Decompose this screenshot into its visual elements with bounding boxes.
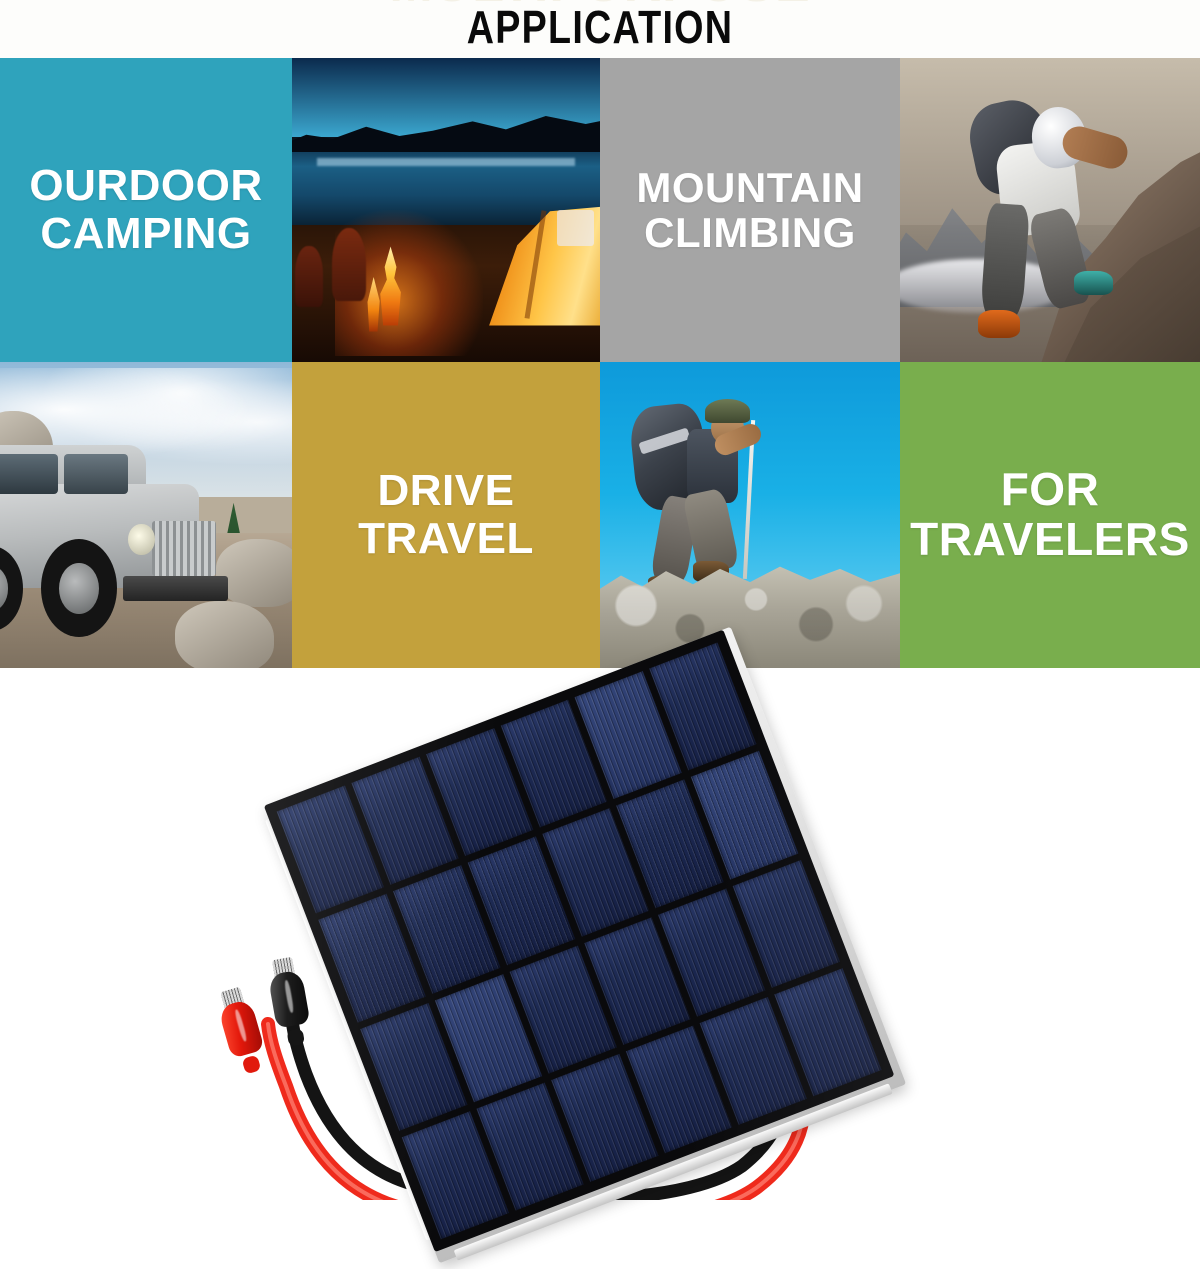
application-grid: OURDOOR CAMPING MOUNTAIN CLIMBING — [0, 58, 1200, 668]
drive-travel-label: DRIVE TRAVEL — [352, 467, 540, 562]
jeep-headlight — [128, 524, 154, 555]
grid-photo-jeep — [0, 362, 292, 668]
for-travelers-label: FOR TRAVELERS — [904, 465, 1196, 564]
grid-cell-mountain-climbing: MOUNTAIN CLIMBING — [600, 58, 900, 362]
grid-photo-hiker — [600, 362, 900, 668]
climber-shoe-front — [1074, 271, 1113, 295]
grid-cell-outdoor-camping: OURDOOR CAMPING — [0, 58, 292, 362]
grid-photo-camping — [292, 58, 600, 362]
header-band: MULTIPURPOSE APPLICATION — [0, 0, 1200, 58]
outdoor-camping-label: OURDOOR CAMPING — [23, 162, 268, 257]
camper-figure-child — [295, 246, 323, 307]
page-title: APPLICATION — [108, 1, 1092, 53]
camper-figure-adult — [332, 228, 366, 301]
grid-cell-drive-travel: DRIVE TRAVEL — [292, 362, 600, 668]
grid-photo-climbing — [900, 58, 1200, 362]
jeep-window-rear — [0, 454, 58, 494]
lake-reflection — [317, 158, 576, 166]
grid-cell-for-travelers: FOR TRAVELERS — [900, 362, 1200, 668]
jeep-grille — [152, 521, 216, 576]
mountain-climbing-label: MOUNTAIN CLIMBING — [630, 165, 869, 256]
climber-shoe-back — [978, 310, 1020, 337]
jeep-wheel-front — [41, 539, 117, 637]
jeep-bumper — [123, 576, 228, 600]
tent-window — [557, 210, 594, 246]
rock-texture — [600, 564, 900, 668]
jeep-window-front — [64, 454, 128, 494]
hiker-cap — [705, 399, 750, 423]
